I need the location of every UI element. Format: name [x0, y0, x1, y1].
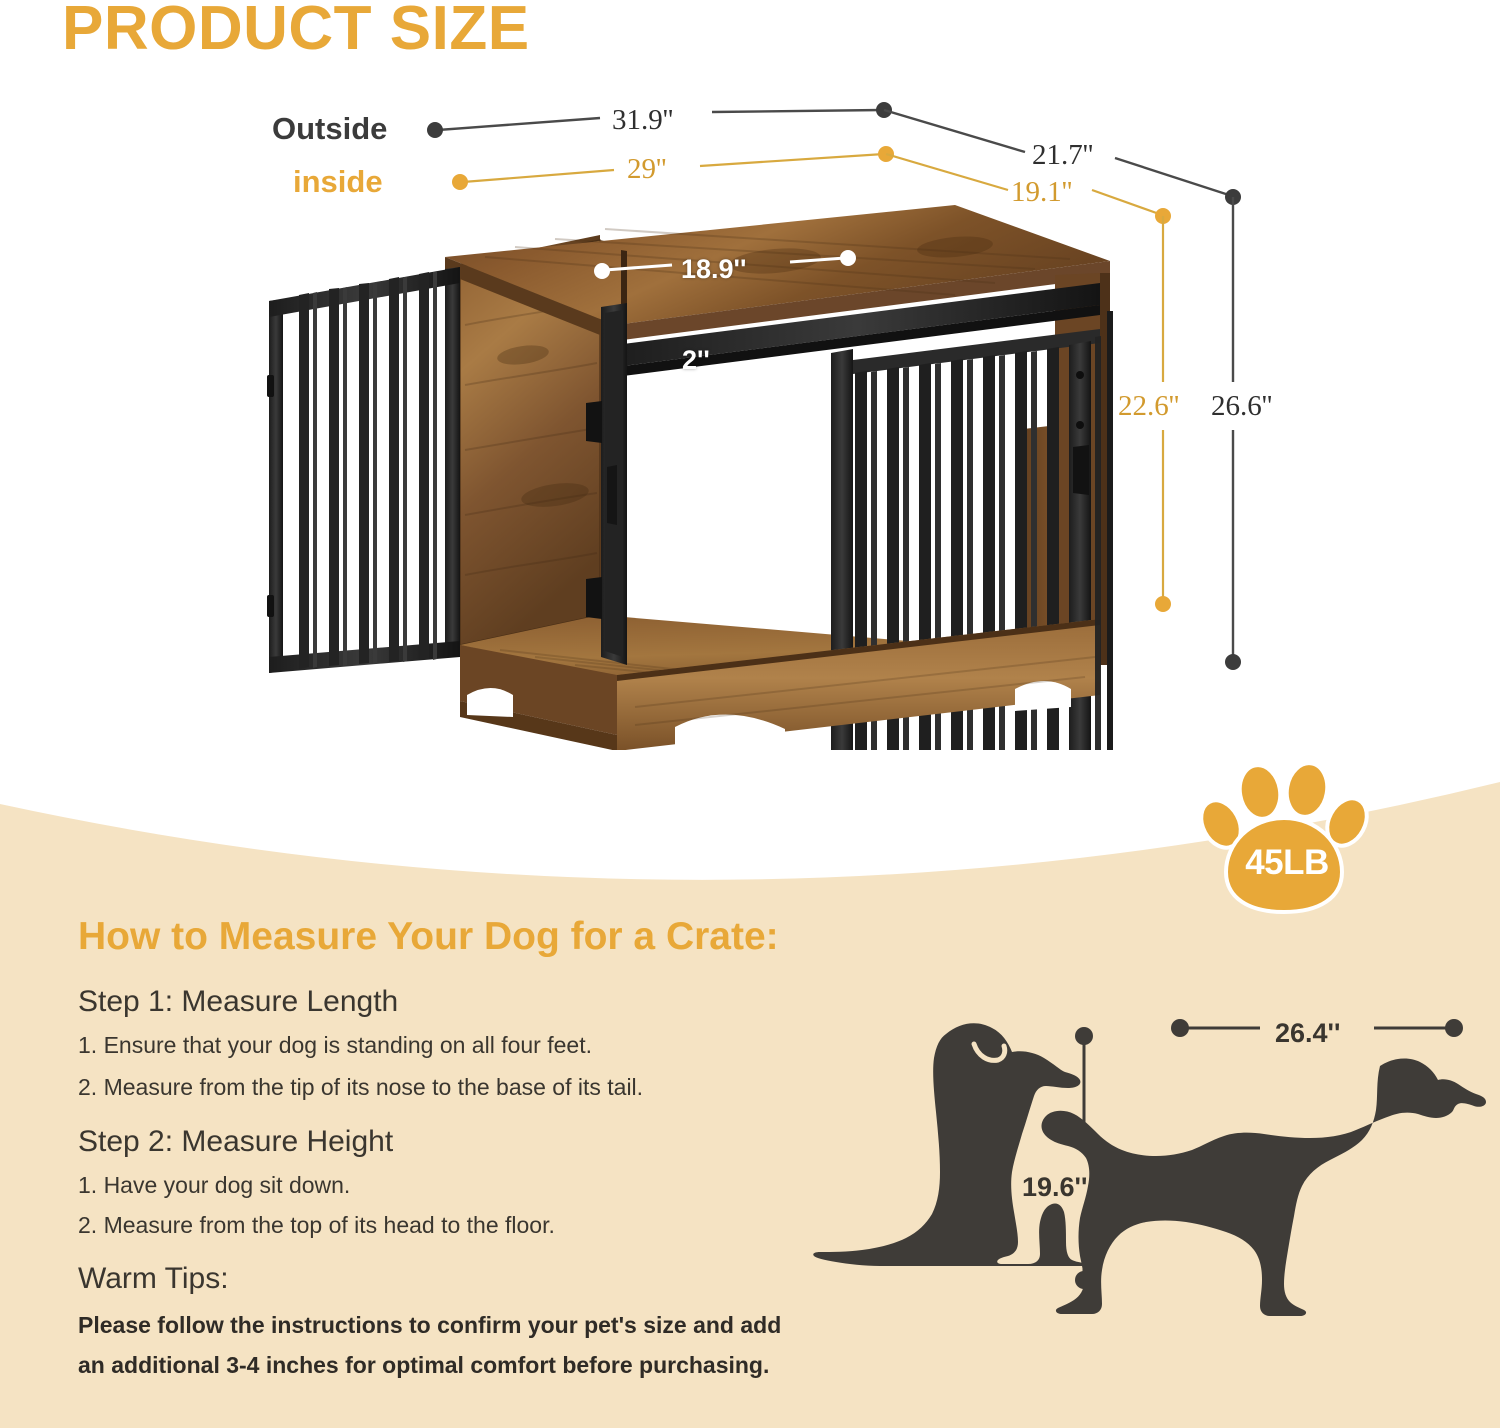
step2-line2: 2. Measure from the top of its head to t… [78, 1212, 555, 1239]
weight-capacity-label: 45LB [1219, 843, 1355, 883]
dimension-leader-lines [0, 0, 1500, 760]
infographic-canvas: PRODUCT SIZE [0, 0, 1500, 1428]
step2-line1: 1. Have your dog sit down. [78, 1172, 350, 1199]
legend-outside-label: Outside [272, 111, 387, 147]
paw-icon [1185, 762, 1385, 922]
dimension-outside-depth: 21.7'' [1032, 139, 1093, 172]
warm-tips-heading: Warm Tips: [78, 1262, 229, 1296]
dimension-door-width: 18.9'' [681, 254, 746, 285]
dimension-inside-width: 29'' [627, 153, 666, 186]
dog-length-label: 26.4'' [1275, 1018, 1340, 1049]
dimension-inside-height: 22.6'' [1118, 390, 1179, 423]
warm-tips-line2: an additional 3-4 inches for optimal com… [78, 1352, 769, 1379]
dog-measure-diagram [760, 1000, 1500, 1340]
step1-heading: Step 1: Measure Length [78, 985, 398, 1019]
dog-standing-silhouette [1042, 1059, 1487, 1316]
warm-tips-line1: Please follow the instructions to confir… [78, 1312, 781, 1339]
step2-heading: Step 2: Measure Height [78, 1125, 393, 1159]
legend-inside-label: inside [293, 164, 383, 200]
dimension-outside-width: 31.9'' [612, 104, 673, 137]
dimension-bar-spacing: 2'' [682, 345, 710, 376]
dimension-outside-height: 26.6'' [1211, 390, 1272, 423]
step1-line2: 2. Measure from the tip of its nose to t… [78, 1074, 643, 1101]
step1-line1: 1. Ensure that your dog is standing on a… [78, 1032, 592, 1059]
guide-title: How to Measure Your Dog for a Crate: [78, 915, 779, 959]
dog-sitting-silhouette [813, 1023, 1085, 1266]
dog-height-label: 19.6'' [1022, 1172, 1087, 1203]
dimension-inside-depth: 19.1'' [1011, 176, 1072, 209]
